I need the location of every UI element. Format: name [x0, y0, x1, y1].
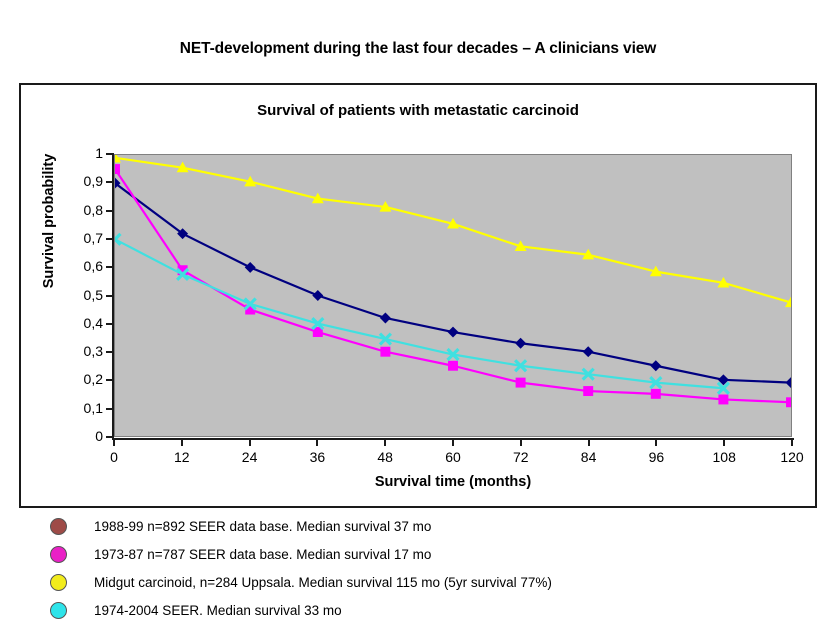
- plot-wrapper: 00,10,20,30,40,50,60,70,80,91 0122436486…: [21, 85, 815, 506]
- y-axis-line: [112, 153, 114, 440]
- x-tick-label: 108: [713, 449, 736, 465]
- series-2: [115, 164, 791, 407]
- y-tick-label: 0,4: [84, 315, 109, 331]
- legend-marker-icon: [50, 518, 67, 535]
- y-tick-label: 0,1: [84, 400, 109, 416]
- slide-title: NET-development during the last four dec…: [0, 40, 836, 58]
- y-tick-label: 0,9: [84, 173, 109, 189]
- x-tick-label: 60: [445, 449, 461, 465]
- x-tick-mark: [113, 440, 115, 446]
- y-tick-label: 0,3: [84, 343, 109, 359]
- data-point-marker: [583, 346, 594, 357]
- legend-marker-icon: [50, 574, 67, 591]
- legend-item: 1988-99 n=892 SEER data base. Median sur…: [19, 512, 817, 540]
- y-tick-label: 0,8: [84, 202, 109, 218]
- x-tick-label: 0: [110, 449, 118, 465]
- x-tick-label: 96: [649, 449, 665, 465]
- plot-area: [114, 154, 792, 437]
- data-point-marker: [786, 377, 791, 388]
- x-tick-label: 36: [310, 449, 326, 465]
- x-tick-label: 84: [581, 449, 597, 465]
- data-point-marker: [245, 262, 256, 273]
- y-tick-label: 0: [95, 428, 109, 444]
- x-tick-mark: [791, 440, 793, 446]
- series-4: [115, 234, 729, 394]
- y-tick-label: 0,2: [84, 371, 109, 387]
- x-tick-mark: [723, 440, 725, 446]
- x-axis-label: Survival time (months): [114, 474, 792, 490]
- series-3: [115, 155, 791, 307]
- x-tick-mark: [520, 440, 522, 446]
- data-point-marker: [718, 395, 728, 405]
- slide-page: NET-development during the last four dec…: [0, 0, 836, 627]
- x-tick-mark: [452, 440, 454, 446]
- x-tick-label: 12: [174, 449, 190, 465]
- data-point-marker: [115, 164, 120, 174]
- data-point-marker: [448, 361, 458, 371]
- data-point-marker: [583, 386, 593, 396]
- data-point-marker: [380, 347, 390, 357]
- y-tick-label: 0,7: [84, 230, 109, 246]
- legend-item: 1974-2004 SEER. Median survival 33 mo: [19, 596, 817, 624]
- y-tick-label: 0,5: [84, 287, 109, 303]
- series-line: [115, 158, 791, 303]
- figure-container: Survival of patients with metastatic car…: [19, 83, 817, 508]
- x-tick-mark: [588, 440, 590, 446]
- data-point-marker: [786, 397, 791, 407]
- data-point-marker: [312, 290, 323, 301]
- data-point-marker: [448, 327, 459, 338]
- legend-label: 1973-87 n=787 SEER data base. Median sur…: [94, 547, 431, 562]
- x-tick-mark: [655, 440, 657, 446]
- x-tick-label: 120: [780, 449, 803, 465]
- x-tick-mark: [384, 440, 386, 446]
- legend-marker-icon: [50, 546, 67, 563]
- legend-item: Midgut carcinoid, n=284 Uppsala. Median …: [19, 568, 817, 596]
- x-tick-mark: [249, 440, 251, 446]
- data-point-marker: [380, 313, 391, 324]
- series-canvas: [115, 155, 791, 436]
- data-point-marker: [115, 234, 120, 245]
- y-tick-label: 1: [95, 145, 109, 161]
- x-tick-mark: [316, 440, 318, 446]
- chart-legend: 1988-99 n=892 SEER data base. Median sur…: [19, 512, 817, 624]
- x-tick-label: 72: [513, 449, 529, 465]
- legend-label: 1974-2004 SEER. Median survival 33 mo: [94, 603, 342, 618]
- data-point-marker: [651, 389, 661, 399]
- data-point-marker: [515, 338, 526, 349]
- x-tick-label: 24: [242, 449, 258, 465]
- series-line: [115, 239, 723, 388]
- legend-marker-icon: [50, 602, 67, 619]
- legend-item: 1973-87 n=787 SEER data base. Median sur…: [19, 540, 817, 568]
- data-point-marker: [516, 378, 526, 388]
- x-tick-mark: [181, 440, 183, 446]
- data-point-marker: [650, 360, 661, 371]
- legend-label: Midgut carcinoid, n=284 Uppsala. Median …: [94, 575, 552, 590]
- y-axis-label: Survival probability: [41, 131, 57, 311]
- y-tick-label: 0,6: [84, 258, 109, 274]
- legend-label: 1988-99 n=892 SEER data base. Median sur…: [94, 519, 431, 534]
- x-tick-label: 48: [377, 449, 393, 465]
